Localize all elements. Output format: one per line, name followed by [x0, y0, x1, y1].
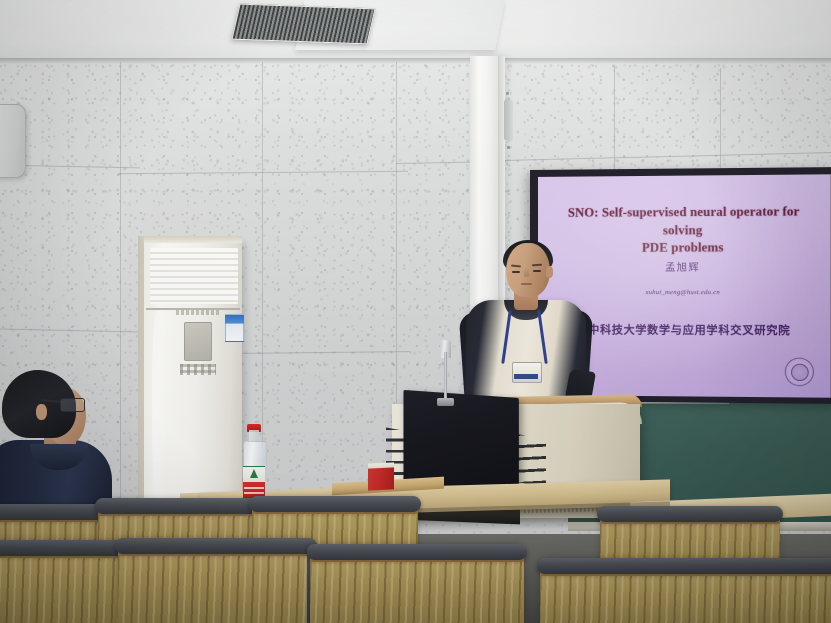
wall-seam-vertical	[614, 66, 615, 176]
presenter-nose	[524, 268, 529, 277]
seal-inner-ring	[791, 363, 809, 381]
slide-title: SNO: Self-supervised neural operator for…	[549, 203, 818, 257]
wall-speaker-icon	[0, 104, 26, 178]
seat-top-rail	[307, 544, 527, 560]
seat-backrest	[540, 569, 831, 623]
seat-top-rail	[537, 558, 831, 574]
microphone-stem	[444, 352, 447, 404]
seat-top-rail	[115, 538, 317, 554]
conference-name-badge	[512, 362, 542, 383]
wall-seam-vertical	[262, 62, 263, 502]
pillar-mount-bracket	[504, 100, 513, 140]
ac-surface-reflection	[152, 310, 167, 500]
slide-author: 孟旭辉	[549, 258, 818, 274]
badge-color-strip	[514, 374, 538, 379]
ac-display-panel[interactable]	[184, 322, 212, 361]
wall-seam-vertical	[720, 68, 721, 176]
red-tissue-box	[368, 467, 394, 490]
pillar-screw	[506, 92, 509, 95]
ceiling-air-vent-icon	[231, 4, 375, 45]
eyeglasses-icon	[60, 398, 85, 412]
slide-title-line-1: SNO: Self-supervised neural operator for…	[568, 205, 800, 238]
seat-top-rail	[249, 496, 421, 512]
slide-title-line-2: PDE problems	[642, 240, 724, 254]
presenter-mouth	[521, 283, 532, 285]
attendee-ear	[36, 404, 47, 420]
pillar-screw	[507, 146, 510, 149]
ac-top-cap	[144, 236, 242, 243]
seat-top-rail	[597, 506, 783, 522]
seat-front-4[interactable]	[540, 560, 831, 623]
ac-control-buttons[interactable]	[180, 364, 216, 375]
university-seal-icon	[785, 358, 814, 387]
microphone-base	[437, 398, 454, 406]
seat-front-1[interactable]	[0, 542, 126, 623]
presenter-ear	[546, 266, 553, 278]
ac-brand-mark	[176, 310, 220, 315]
seat-backrest	[0, 551, 126, 623]
seat-top-rail	[95, 498, 261, 514]
energy-efficiency-label	[225, 314, 244, 342]
seat-front-2[interactable]	[118, 540, 314, 623]
wall-seam-vertical	[120, 62, 121, 532]
slide-email: xuhui_meng@hust.edu.cn	[549, 289, 818, 296]
ceiling-wall-junction	[0, 58, 831, 64]
seat-backrest	[310, 555, 524, 623]
seat-front-3[interactable]	[310, 546, 524, 623]
wall-seam-vertical	[396, 62, 397, 462]
seat-top-rail	[0, 540, 129, 556]
ac-louver-vent	[150, 248, 238, 304]
seat-backrest	[118, 549, 314, 623]
lecture-hall-photo: SNO: Self-supervised neural operator for…	[0, 0, 831, 623]
